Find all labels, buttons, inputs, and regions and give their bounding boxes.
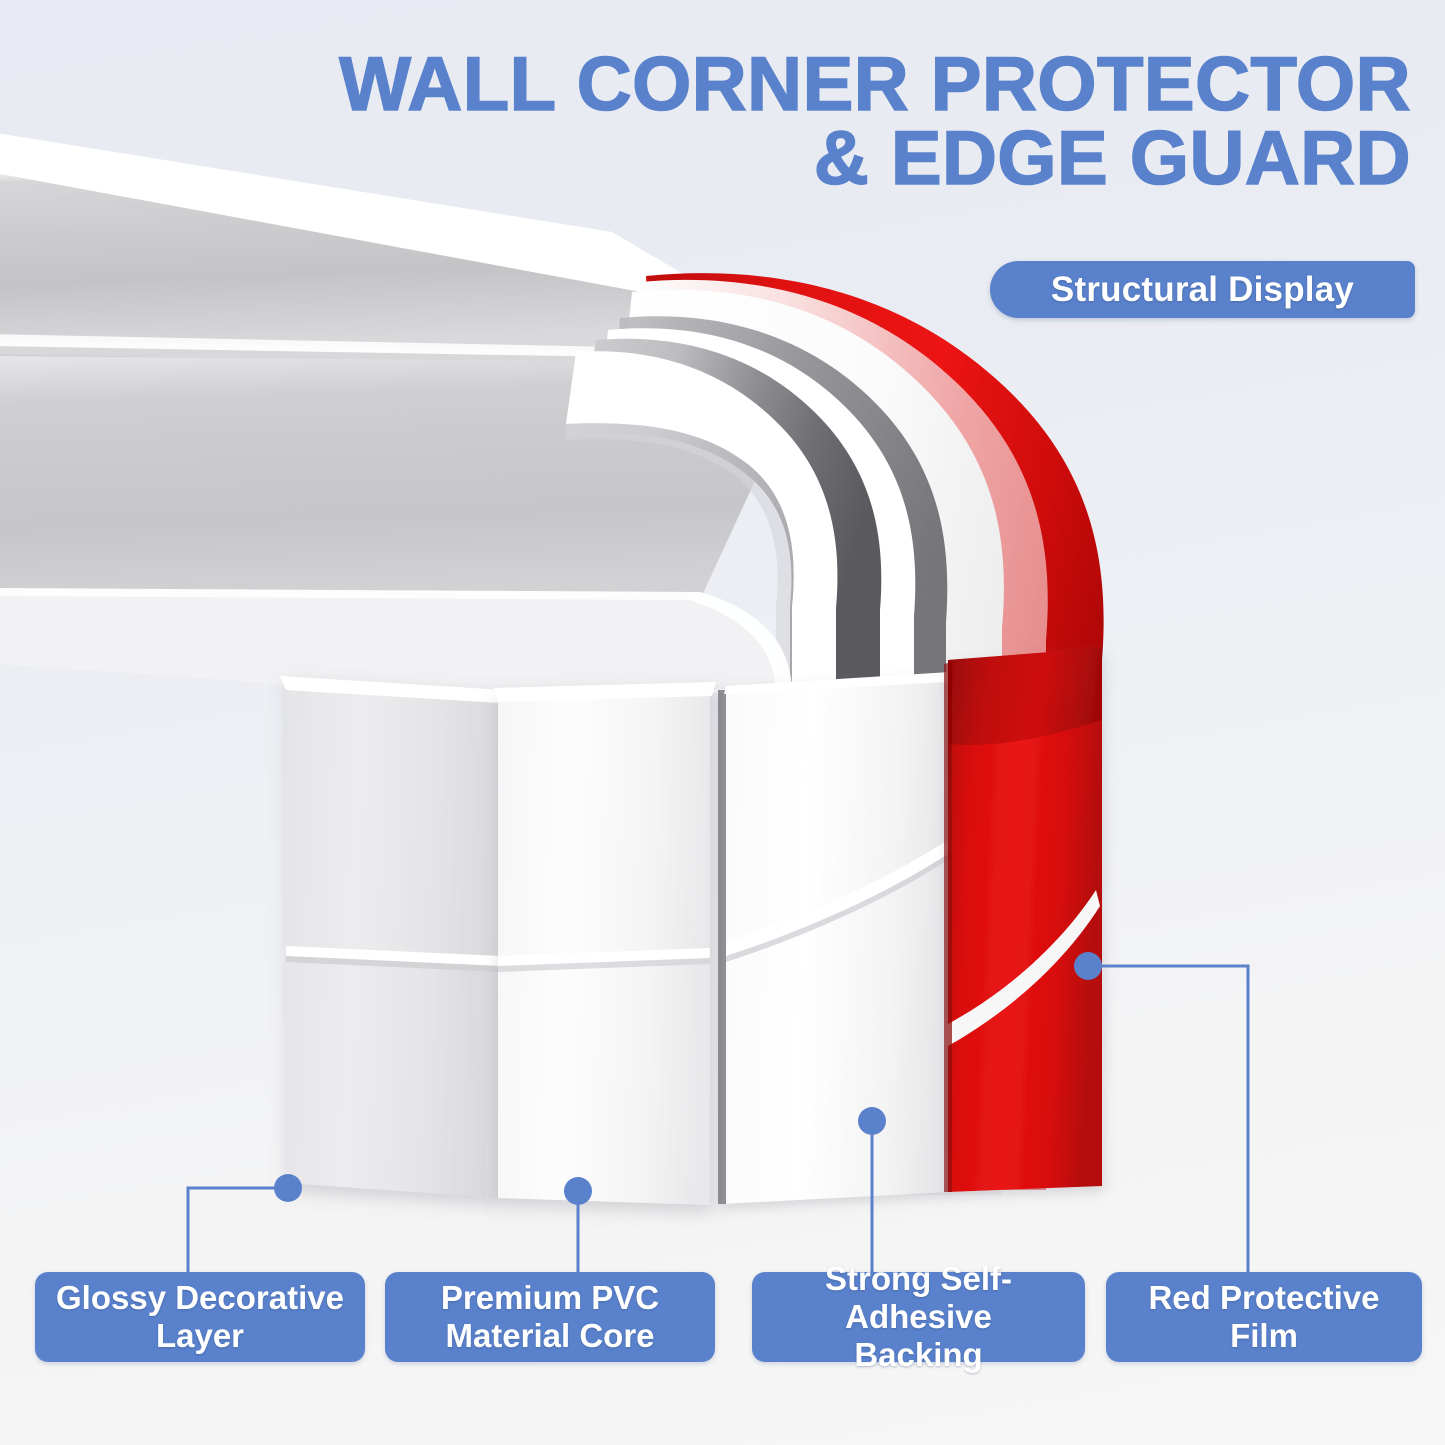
panel-self-adhesive-backing (718, 672, 950, 1204)
callout-dot (1074, 952, 1102, 980)
callout-label-line-2: Layer (156, 1317, 244, 1354)
callout-label-premium-pvc-material-core: Premium PVC Material Core (385, 1272, 715, 1362)
callout-label-text: Red Protective Film (1116, 1279, 1412, 1356)
callout-label-text: Premium PVC Material Core (441, 1279, 659, 1356)
callout-label-line-2: Material Core (445, 1317, 654, 1354)
panel-premium-pvc-core (494, 682, 716, 1205)
panel-red-protective-film (944, 648, 1102, 1192)
structural-display-badge-label: Structural Display (1051, 270, 1354, 310)
callout-label-line-1: Premium PVC (441, 1279, 659, 1316)
callout-label-strong-self-adhesive-backing: Strong Self-Adhesive Backing (752, 1272, 1085, 1362)
callout-label-line-2: Backing (854, 1336, 982, 1373)
title-line-1: WALL CORNER PROTECTOR (231, 48, 1411, 122)
callout-label-text: Glossy Decorative Layer (56, 1279, 344, 1356)
structural-display-badge: Structural Display (990, 261, 1415, 318)
callout-dot (564, 1177, 592, 1205)
page-title: WALL CORNER PROTECTOR & EDGE GUARD (231, 48, 1411, 195)
callout-dot (274, 1174, 302, 1202)
title-line-2: & EDGE GUARD (231, 122, 1411, 196)
product-illustration (0, 0, 1445, 1445)
callout-leader-line (1088, 966, 1248, 1272)
callout-leader-line (188, 1188, 288, 1272)
infographic-canvas: WALL CORNER PROTECTOR & EDGE GUARD Struc… (0, 0, 1445, 1445)
callout-label-line-1: Strong Self-Adhesive (825, 1260, 1012, 1335)
callout-dot (858, 1107, 886, 1135)
callout-label-red-protective-film: Red Protective Film (1106, 1272, 1422, 1362)
callout-label-line-1: Red Protective Film (1148, 1279, 1379, 1354)
callout-label-line-1: Glossy Decorative (56, 1279, 344, 1316)
panel-glossy-decorative-layer (280, 676, 505, 1198)
callout-label-glossy-decorative-layer: Glossy Decorative Layer (35, 1272, 365, 1362)
callout-label-text: Strong Self-Adhesive Backing (762, 1260, 1075, 1375)
